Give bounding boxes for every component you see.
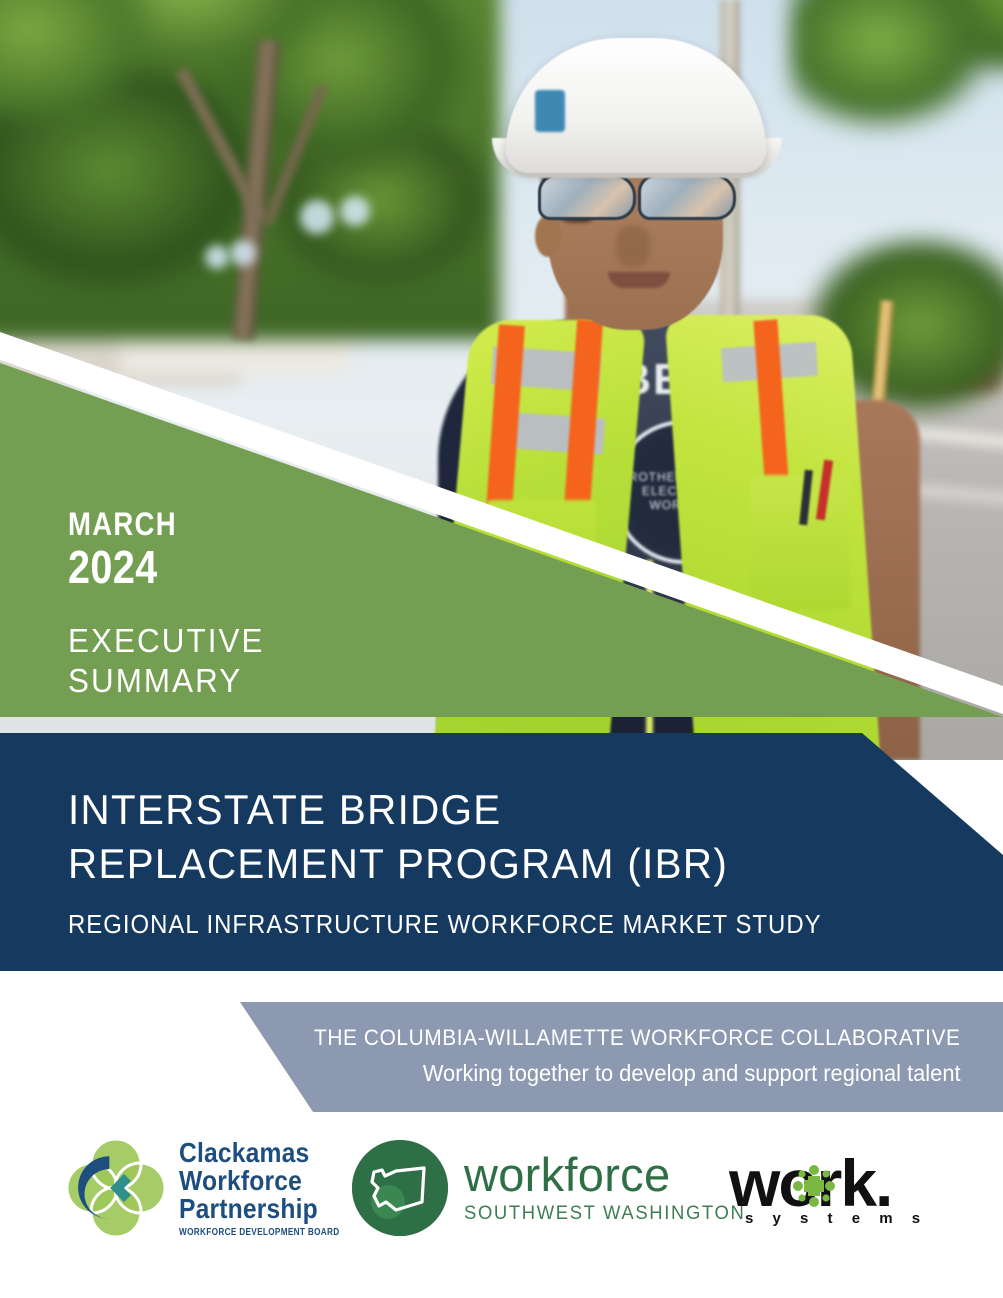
- page-subtitle: REGIONAL INFRASTRUCTURE WORKFORCE MARKET…: [68, 909, 822, 940]
- title-text-group: INTERSTATE BRIDGE REPLACEMENT PROGRAM (I…: [68, 783, 887, 940]
- vest-pocket: [750, 475, 850, 610]
- page-title-line1: INTERSTATE BRIDGE: [68, 783, 854, 837]
- logo-wsw-name: workforce: [464, 1151, 754, 1198]
- bokeh-highlight: [205, 245, 229, 269]
- collaborative-name: THE COLUMBIA-WILLAMETTE WORKFORCE COLLAB…: [314, 1025, 961, 1051]
- worker-ear: [535, 215, 561, 257]
- publication-year: 2024: [68, 542, 246, 593]
- page-title-line2: REPLACEMENT PROGRAM (IBR): [68, 837, 854, 891]
- publication-month: MARCH: [68, 508, 246, 540]
- date-and-doctype-block: MARCH 2024 EXECUTIVE SUMMARY: [68, 508, 275, 701]
- collaborative-tagline: Working together to develop and support …: [314, 1060, 961, 1087]
- logo-work-systems-stack: work.: [729, 1150, 957, 1234]
- worker-nose: [616, 225, 650, 267]
- washington-state-outline-icon: [352, 1140, 448, 1236]
- logo-clackamas-line1: Clackamas: [179, 1139, 351, 1167]
- title-block: INTERSTATE BRIDGE REPLACEMENT PROGRAM (I…: [0, 733, 1003, 971]
- document-type: EXECUTIVE SUMMARY: [68, 621, 265, 702]
- worker-mouth: [608, 272, 670, 288]
- logo-wsw-wordmark: workforce SOUTHWEST WASHINGTON: [464, 1151, 754, 1225]
- bokeh-highlight: [340, 196, 370, 226]
- clover-c-icon: [64, 1136, 168, 1240]
- logo-clackamas-tagline: WORKFORCE DEVELOPMENT BOARD: [179, 1228, 340, 1238]
- document-type-line1: EXECUTIVE: [68, 621, 265, 661]
- bokeh-highlight: [230, 240, 256, 266]
- logo-clackamas-line2: Workforce: [179, 1167, 351, 1195]
- logo-work-systems: work.: [729, 1150, 957, 1234]
- logo-clackamas-line3: Partnership: [179, 1195, 351, 1223]
- bokeh-highlight: [300, 200, 334, 234]
- collaborative-banner: THE COLUMBIA-WILLAMETTE WORKFORCE COLLAB…: [240, 1002, 1003, 1112]
- partner-logo-row: Clackamas Workforce Partnership WORKFORC…: [0, 1128, 1003, 1268]
- logo-work-systems-sub: s y s t e m s: [745, 1210, 928, 1227]
- safety-glasses-lens: [638, 174, 736, 220]
- logo-clackamas-workforce-partnership: Clackamas Workforce Partnership WORKFORC…: [64, 1136, 375, 1240]
- safety-glasses-lens: [538, 174, 636, 220]
- report-cover-page: IBEW BROTHERHOOD OF ELECTRICAL WORKERS: [0, 0, 1003, 1298]
- collaborative-banner-text: THE COLUMBIA-WILLAMETTE WORKFORCE COLLAB…: [280, 1025, 961, 1087]
- green-people-cluster-icon: [792, 1164, 836, 1208]
- document-type-line2: SUMMARY: [68, 661, 265, 701]
- hard-hat-sticker: [535, 90, 565, 132]
- logo-workforce-southwest-washington: workforce SOUTHWEST WASHINGTON: [352, 1140, 754, 1236]
- logo-wsw-region: SOUTHWEST WASHINGTON: [464, 1203, 745, 1225]
- logo-clackamas-wordmark: Clackamas Workforce Partnership WORKFORC…: [179, 1139, 375, 1238]
